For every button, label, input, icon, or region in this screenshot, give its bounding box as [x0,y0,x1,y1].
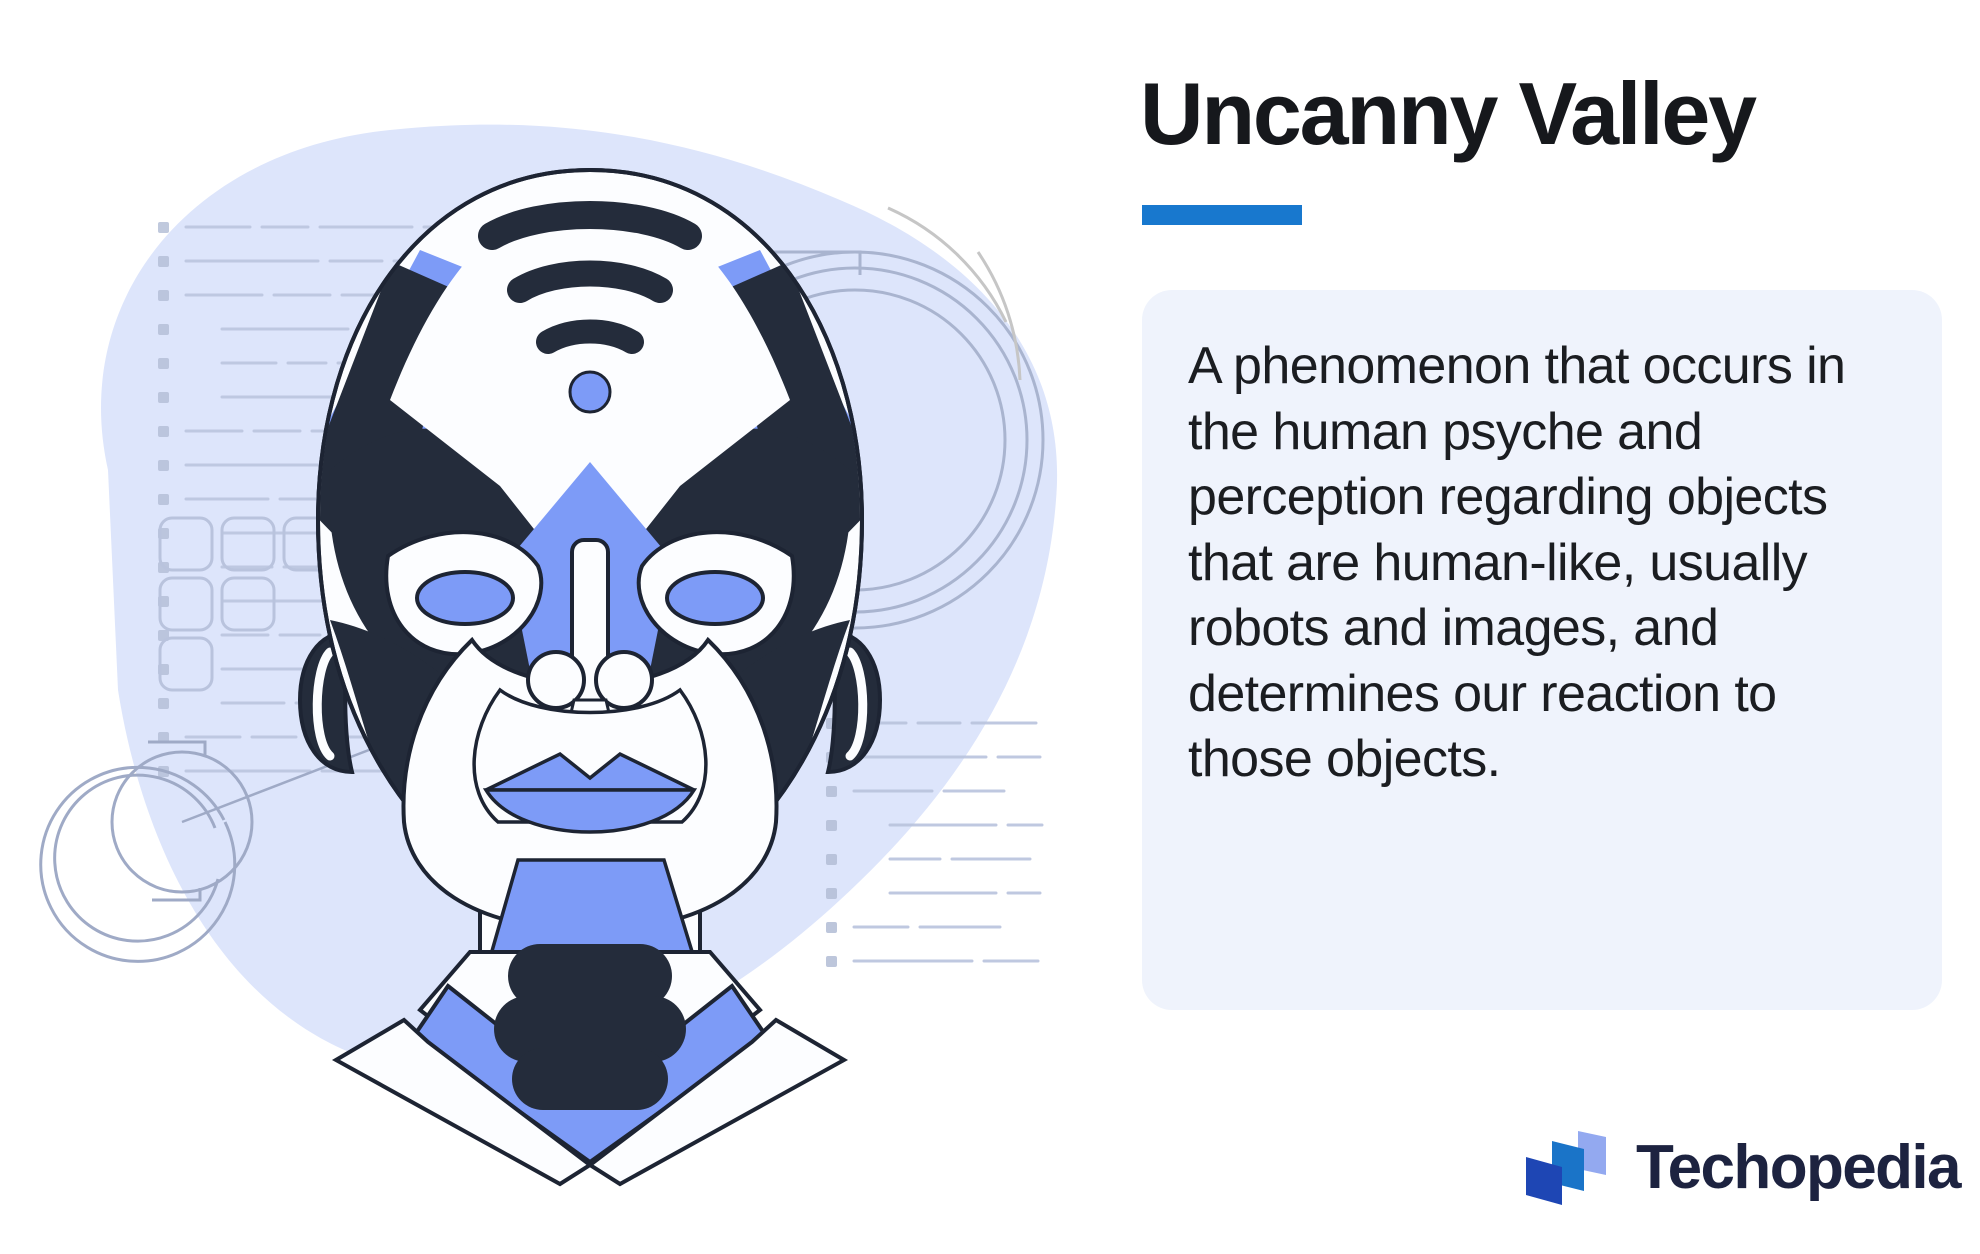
neck-vertebrae [494,944,686,1110]
infographic-canvas: Uncanny Valley A phenomenon that occurs … [0,0,1980,1254]
robot-eye-right [667,572,763,624]
techopedia-wordmark: Techopedia [1636,1137,1960,1199]
robot-eye-left [417,572,513,624]
techopedia-logo[interactable]: Techopedia [1522,1122,1960,1214]
techopedia-mark-icon [1522,1129,1614,1207]
page-title: Uncanny Valley [1140,68,1960,160]
definition-card: A phenomenon that occurs in the human ps… [1142,290,1942,1010]
content-panel: Uncanny Valley A phenomenon that occurs … [1100,0,1980,1254]
chin-plate [490,860,694,958]
definition-text: A phenomenon that occurs in the human ps… [1188,334,1896,793]
illustration-panel [0,0,1100,1254]
robot-face-illustration [0,0,1100,1254]
title-accent-rule [1142,205,1302,225]
